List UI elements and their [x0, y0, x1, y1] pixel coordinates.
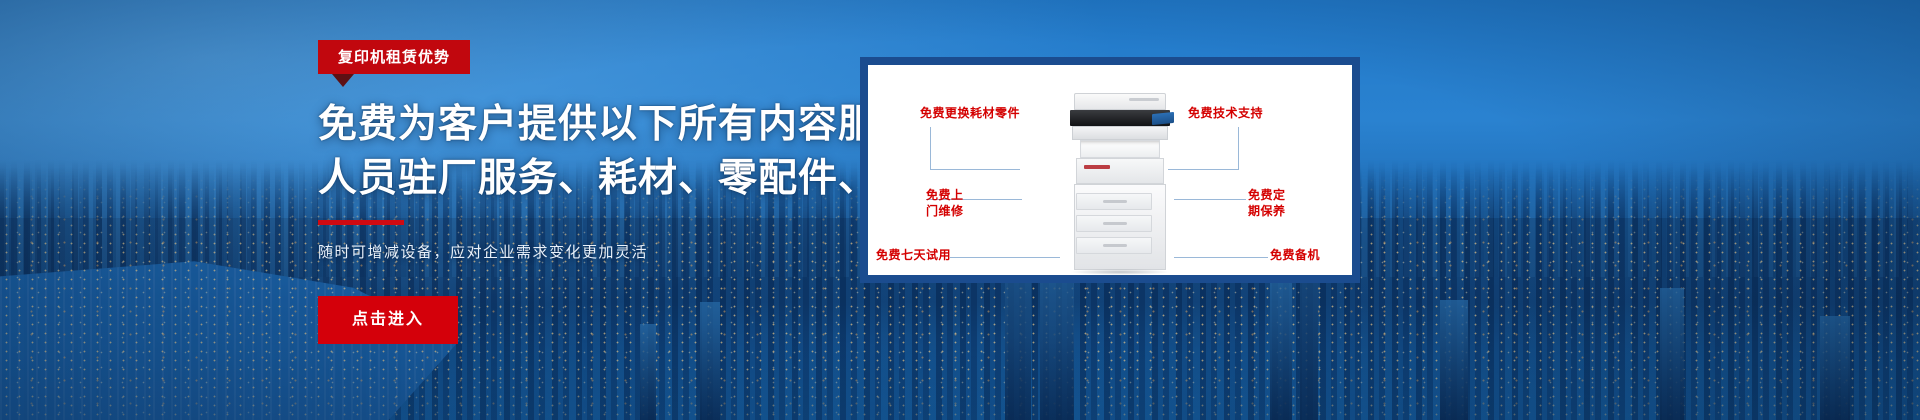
- service-diagram-canvas: 免费更换耗材零件 免费上 门维修 免费七天试用 免费技术支持 免费定 期保养 免…: [868, 65, 1352, 275]
- advantage-badge: 复印机租赁优势: [318, 40, 470, 74]
- leader-line-mid-right: [1174, 199, 1246, 200]
- service-diagram-card: 免费更换耗材零件 免费上 门维修 免费七天试用 免费技术支持 免费定 期保养 免…: [860, 57, 1360, 283]
- service-label-tech-support: 免费技术支持: [1188, 105, 1263, 121]
- leader-line-bottom-right: [1174, 257, 1268, 258]
- service-label-backup-machine: 免费备机: [1270, 247, 1320, 263]
- service-label-regular-maintenance: 免费定 期保养: [1248, 187, 1286, 219]
- subtitle: 随时可增减设备，应对企业需求变化更加灵活: [318, 241, 878, 262]
- divider: [318, 220, 404, 225]
- leader-line-top-right-horizontal: [1168, 169, 1239, 170]
- service-label-replace-consumables: 免费更换耗材零件: [920, 105, 1020, 121]
- promo-banner: 复印机租赁优势 免费为客户提供以下所有内容服务： 人员驻厂服务、耗材、零配件、人…: [0, 0, 1920, 420]
- enter-button[interactable]: 点击进入: [318, 296, 458, 344]
- copier-icon: [1068, 93, 1172, 275]
- leader-line-bottom-left: [950, 257, 1060, 258]
- advantage-badge-label: 复印机租赁优势: [338, 49, 450, 66]
- leader-line-top-left-horizontal: [930, 169, 1020, 170]
- leader-line-top-right-vertical: [1238, 127, 1239, 170]
- promo-copy-block: 复印机租赁优势 免费为客户提供以下所有内容服务： 人员驻厂服务、耗材、零配件、人…: [318, 40, 878, 344]
- service-label-onsite-repair: 免费上 门维修: [926, 187, 964, 219]
- page-title: 免费为客户提供以下所有内容服务： 人员驻厂服务、耗材、零配件、人工费: [318, 98, 878, 206]
- badge-pointer-icon: [332, 74, 354, 87]
- leader-line-top-left-vertical: [930, 127, 931, 170]
- headline-line-2: 人员驻厂服务、耗材、零配件、人工费: [318, 152, 878, 206]
- service-label-seven-day-trial: 免费七天试用: [876, 247, 951, 263]
